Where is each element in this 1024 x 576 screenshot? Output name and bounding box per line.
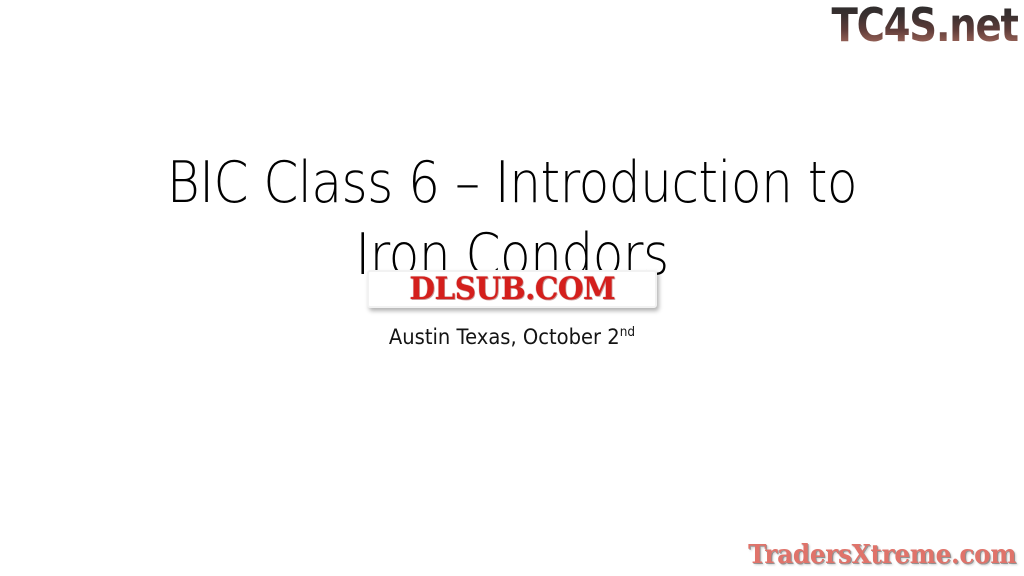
- watermark-dlsub-badge: DLSUB.COM: [367, 270, 657, 308]
- watermark-tc4s-net: TC4S.net: [832, 2, 1018, 48]
- slide-subtitle-ordinal-suffix: nd: [620, 325, 635, 340]
- slide-subtitle: Austin Texas, October 2nd: [36, 325, 988, 349]
- subtitle-block: Austin Texas, October 2nd: [0, 325, 1024, 349]
- slide-subtitle-main: Austin Texas, October 2: [389, 325, 620, 349]
- watermark-dlsub-label: DLSUB.COM: [409, 274, 615, 305]
- watermark-tradersxtreme-com: TradersXtreme.com: [748, 542, 1016, 568]
- presentation-slide: TC4S.net BIC Class 6 – Introduction to I…: [0, 0, 1024, 576]
